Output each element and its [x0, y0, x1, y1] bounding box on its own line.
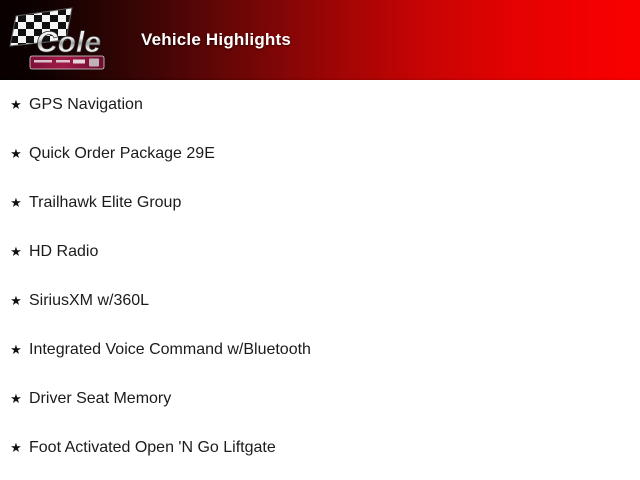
list-item: ★ Trailhawk Elite Group	[0, 178, 640, 227]
list-item-label: Integrated Voice Command w/Bluetooth	[29, 325, 311, 374]
list-item-label: Foot Activated Open 'N Go Liftgate	[29, 423, 276, 472]
star-bullet-icon: ★	[9, 276, 23, 325]
list-item: ★ GPS Navigation	[0, 80, 640, 129]
list-item: ★ Driver Seat Memory	[0, 374, 640, 423]
logo-wordmark: Cole	[36, 26, 101, 59]
list-item-label: GPS Navigation	[29, 80, 143, 129]
list-item: ★ SiriusXM w/360L	[0, 276, 640, 325]
star-bullet-icon: ★	[9, 423, 23, 472]
list-item-label: HD Radio	[29, 227, 98, 276]
star-bullet-icon: ★	[9, 374, 23, 423]
list-item: ★ Quick Order Package 29E	[0, 129, 640, 178]
page-header-banner: Cole Vehicle Highlights	[0, 0, 640, 80]
star-bullet-icon: ★	[9, 178, 23, 227]
star-bullet-icon: ★	[9, 325, 23, 374]
brand-badge-strip	[30, 56, 104, 69]
star-bullet-icon: ★	[9, 227, 23, 276]
list-item: ★ Integrated Voice Command w/Bluetooth	[0, 325, 640, 374]
cole-dealership-logo[interactable]: Cole	[6, 6, 112, 74]
star-bullet-icon: ★	[9, 80, 23, 129]
star-bullet-icon: ★	[9, 129, 23, 178]
list-item-label: Trailhawk Elite Group	[29, 178, 181, 227]
vehicle-highlights-page: Cole Vehicle Highlights ★ GPS Navigation…	[0, 0, 640, 480]
vehicle-highlights-list: ★ GPS Navigation ★ Quick Order Package 2…	[0, 80, 640, 472]
list-item-label: Quick Order Package 29E	[29, 129, 215, 178]
list-item: ★ Foot Activated Open 'N Go Liftgate	[0, 423, 640, 472]
page-title: Vehicle Highlights	[141, 30, 291, 50]
list-item-label: SiriusXM w/360L	[29, 276, 149, 325]
list-item: ★ HD Radio	[0, 227, 640, 276]
list-item-label: Driver Seat Memory	[29, 374, 171, 423]
